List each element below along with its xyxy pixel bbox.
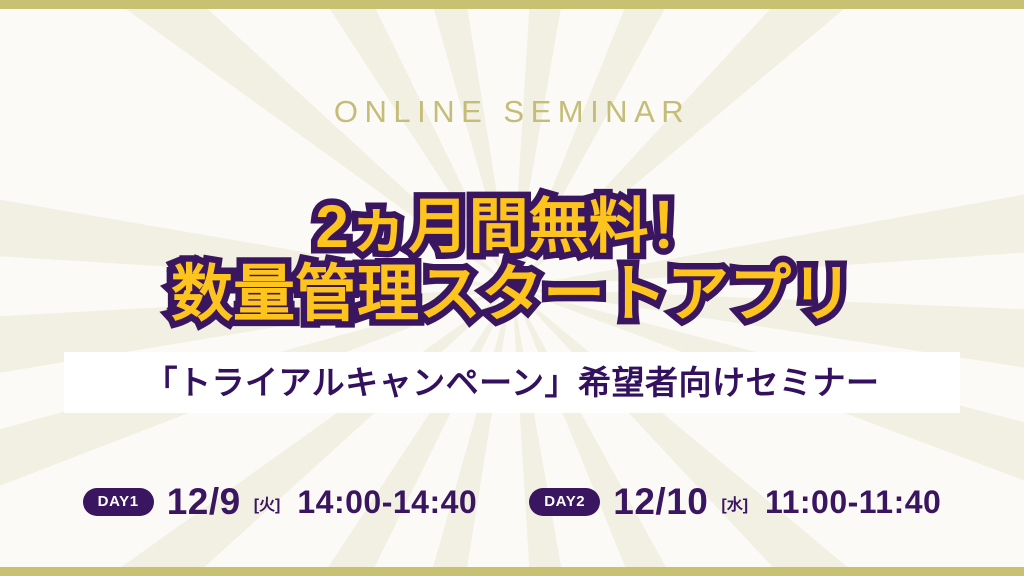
top-gold-band: [0, 0, 1024, 9]
dates-row: DAY1 12/9 [火] 14:00-14:40 DAY2 12/10 [水]…: [0, 483, 1024, 520]
bottom-gold-band: [0, 567, 1024, 576]
day1-time: 14:00-14:40: [297, 486, 477, 518]
headline-block: 2ヵ月間無料！ 数量管理スタートアプリ: [0, 196, 1024, 326]
date-item-day1: DAY1 12/9 [火] 14:00-14:40: [83, 483, 478, 520]
day2-time: 11:00-11:40: [765, 486, 941, 518]
headline-line-1: 2ヵ月間無料！: [0, 196, 1024, 257]
seminar-banner: ONLINE SEMINAR 2ヵ月間無料！ 数量管理スタートアプリ 「トライア…: [0, 0, 1024, 576]
headline-line-2: 数量管理スタートアプリ: [0, 263, 1024, 326]
day1-weekday: [火]: [254, 498, 281, 514]
day2-badge: DAY2: [529, 488, 600, 516]
subtitle-bar: 「トライアルキャンペーン」希望者向けセミナー: [64, 352, 960, 413]
day2-weekday: [水]: [721, 498, 748, 514]
eyebrow-label: ONLINE SEMINAR: [0, 96, 1024, 127]
subtitle-text: 「トライアルキャンペーン」希望者向けセミナー: [144, 366, 879, 399]
day1-badge: DAY1: [83, 488, 154, 516]
date-item-day2: DAY2 12/10 [水] 11:00-11:40: [529, 483, 941, 520]
day2-date: 12/10: [613, 483, 708, 520]
day1-date: 12/9: [167, 483, 241, 520]
